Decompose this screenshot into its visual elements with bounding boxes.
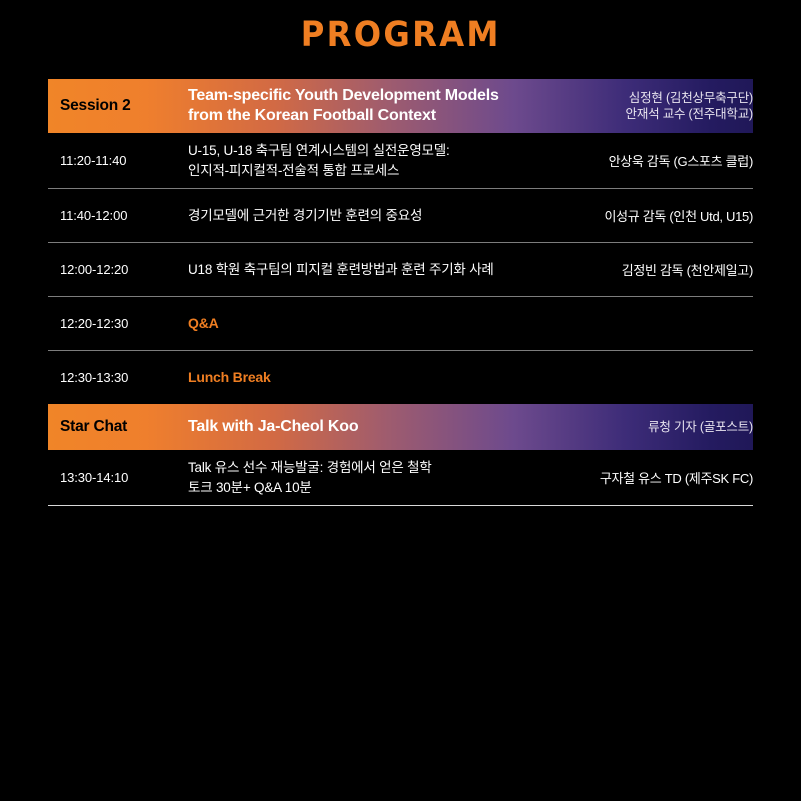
row-speaker: 안상욱 감독 (G스포츠 클럽) bbox=[538, 151, 753, 170]
table-bottom-divider bbox=[48, 505, 753, 506]
row-topic-line-1: U-15, U-18 축구팀 연계시스템의 실전운영모델: bbox=[188, 141, 524, 161]
section-label: Session 2 bbox=[48, 97, 188, 115]
row-speaker: 김정빈 감독 (천안제일고) bbox=[538, 260, 753, 279]
section-speaker-line-1: 심정현 (김천상무축구단) bbox=[538, 90, 753, 107]
section-header-session-2[interactable]: Session 2 Team-specific Youth Developmen… bbox=[48, 79, 753, 133]
table-row[interactable]: 11:40-12:00 경기모델에 근거한 경기기반 훈련의 중요성 이성규 감… bbox=[48, 189, 753, 242]
program-schedule-table: Session 2 Team-specific Youth Developmen… bbox=[48, 79, 753, 506]
row-time: 13:30-14:10 bbox=[48, 470, 188, 485]
table-row[interactable]: 11:20-11:40 U-15, U-18 축구팀 연계시스템의 실전운영모델… bbox=[48, 133, 753, 188]
section-speakers: 심정현 (김천상무축구단) 안재석 교수 (전주대학교) bbox=[538, 90, 753, 123]
row-topic: Talk 유스 선수 재능발굴: 경험에서 얻은 철학 토크 30분+ Q&A … bbox=[188, 458, 538, 497]
section-title-line-1: Team-specific Youth Development Models bbox=[188, 86, 524, 106]
section-speaker-line-2: 안재석 교수 (전주대학교) bbox=[538, 106, 753, 123]
row-topic: Q&A bbox=[188, 313, 538, 333]
table-row[interactable]: 13:30-14:10 Talk 유스 선수 재능발굴: 경험에서 얻은 철학 … bbox=[48, 450, 753, 505]
row-topic-line-2: 토크 30분+ Q&A 10분 bbox=[188, 478, 524, 498]
section-header-star-chat[interactable]: Star Chat Talk with Ja-Cheol Koo 류청 기자 (… bbox=[48, 404, 753, 450]
table-row[interactable]: 12:00-12:20 U18 학원 축구팀의 피지컬 훈련방법과 훈련 주기화… bbox=[48, 243, 753, 296]
row-time: 12:20-12:30 bbox=[48, 316, 188, 331]
section-label: Star Chat bbox=[48, 418, 188, 436]
row-topic-line-1: Talk 유스 선수 재능발굴: 경험에서 얻은 철학 bbox=[188, 458, 524, 478]
row-topic: U-15, U-18 축구팀 연계시스템의 실전운영모델: 인지적-피지컬적-전… bbox=[188, 141, 538, 180]
table-row-lunch-break[interactable]: 12:30-13:30 Lunch Break bbox=[48, 351, 753, 404]
section-title-line-2: from the Korean Football Context bbox=[188, 106, 524, 126]
table-row-qa[interactable]: 12:20-12:30 Q&A bbox=[48, 297, 753, 350]
page-title: PROGRAM bbox=[300, 18, 500, 53]
row-time: 12:00-12:20 bbox=[48, 262, 188, 277]
row-time: 11:20-11:40 bbox=[48, 153, 188, 168]
row-time: 12:30-13:30 bbox=[48, 370, 188, 385]
row-topic: 경기모델에 근거한 경기기반 훈련의 중요성 bbox=[188, 206, 538, 226]
row-topic: Lunch Break bbox=[188, 367, 538, 387]
row-speaker: 이성규 감독 (인천 Utd, U15) bbox=[538, 206, 753, 225]
row-time: 11:40-12:00 bbox=[48, 208, 188, 223]
row-topic-line-2: 인지적-피지컬적-전술적 통합 프로세스 bbox=[188, 161, 524, 181]
program-page: PROGRAM Session 2 Team-specific Youth De… bbox=[0, 0, 801, 801]
section-title: Talk with Ja-Cheol Koo bbox=[188, 417, 538, 437]
section-speakers: 류청 기자 (골포스트) bbox=[538, 419, 753, 436]
page-title-wrapper: PROGRAM bbox=[0, 18, 801, 53]
row-topic: U18 학원 축구팀의 피지컬 훈련방법과 훈련 주기화 사례 bbox=[188, 260, 538, 280]
section-title: Team-specific Youth Development Models f… bbox=[188, 86, 538, 126]
row-speaker: 구자철 유스 TD (제주SK FC) bbox=[538, 468, 753, 487]
